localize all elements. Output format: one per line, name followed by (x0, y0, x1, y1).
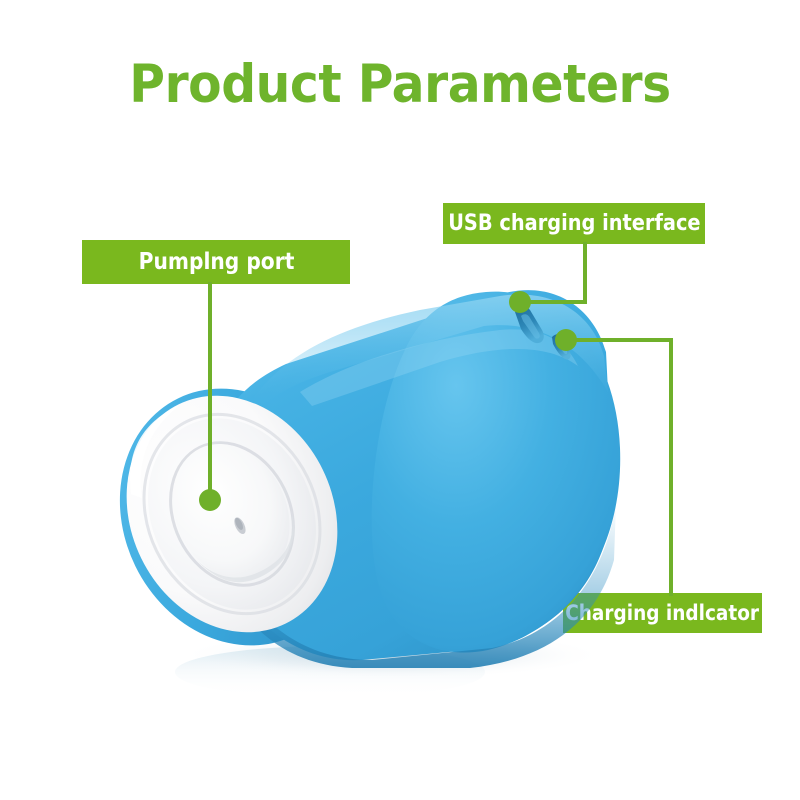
contact-shadow (177, 631, 607, 679)
cap-outer-ring (88, 360, 377, 668)
callout-text-charging-indicator: Charging indlcator (566, 603, 760, 624)
callout-label-usb-charging-interface[interactable]: USB charging interface (443, 203, 705, 244)
cap-inner-button (151, 424, 312, 600)
callout-dot-usb[interactable] (509, 291, 531, 313)
callout-dot-pumping-port[interactable] (199, 489, 221, 511)
floor-reflection (175, 646, 485, 698)
callout-text-usb-charging-interface: USB charging interface (448, 213, 700, 235)
cap-mid-ring (117, 390, 348, 638)
callout-anchor-dots (0, 0, 800, 800)
callout-leader-lines (0, 0, 800, 800)
callout-dot-charging-indicator[interactable] (555, 329, 577, 351)
callout-text-pumping-port: Pumplng port (138, 251, 294, 274)
callout-label-charging-indicator[interactable]: Charging indlcator (563, 593, 762, 633)
callout-label-pumping-port[interactable]: Pumplng port (82, 240, 350, 284)
leader-line-usb (520, 244, 585, 302)
product-parameters-page: Product Parameters (0, 0, 800, 800)
leader-line-indicator (566, 340, 671, 594)
cap-blue-rim (77, 349, 394, 684)
cylinder-body (214, 290, 620, 668)
page-title: Product Parameters (32, 58, 768, 111)
charging-indicator-port (552, 334, 571, 359)
usb-port (515, 307, 544, 343)
white-cap (88, 360, 377, 668)
pumping-port-hole (232, 516, 248, 536)
product-illustration (0, 0, 800, 800)
